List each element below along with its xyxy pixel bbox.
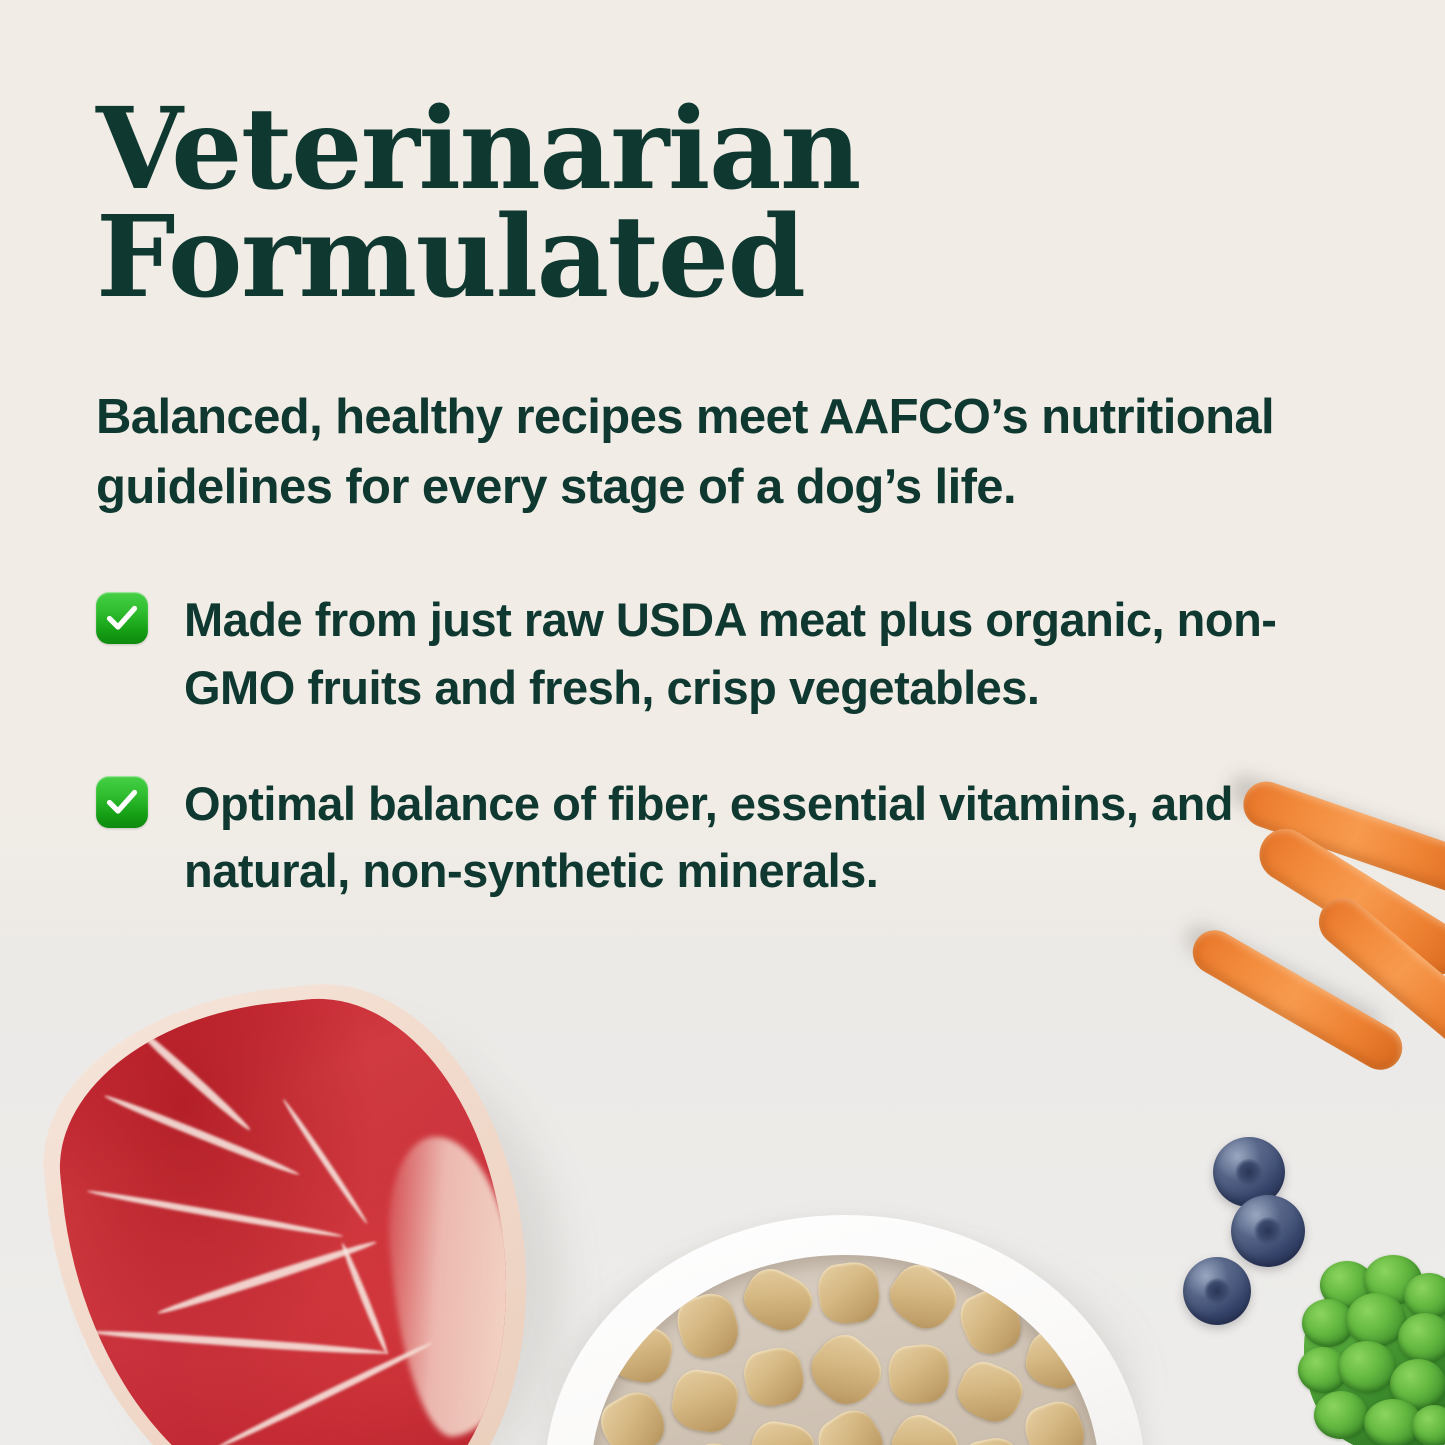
page-title: Veterinarian Formulated [96, 96, 1386, 311]
blueberry [1231, 1195, 1305, 1267]
blueberry-calyx [1254, 1217, 1282, 1244]
raw-steak-image [27, 958, 623, 1445]
check-mark-button-icon [96, 592, 148, 644]
intro-paragraph: Balanced, healthy recipes meet AAFCO’s n… [96, 311, 1366, 522]
list-item: Optimal balance of fiber, essential vita… [96, 770, 1386, 905]
bowl-interior [591, 1255, 1099, 1445]
list-item-label: Made from just raw USDA meat plus organi… [184, 586, 1386, 721]
check-mark-button-icon [96, 776, 148, 828]
kale-image [1298, 1255, 1445, 1445]
list-item-label: Optimal balance of fiber, essential vita… [184, 770, 1386, 905]
blueberry [1183, 1257, 1251, 1325]
kibble-bowl-image [545, 1215, 1155, 1445]
blueberry-calyx [1235, 1159, 1262, 1186]
marketing-banner: Veterinarian Formulated Balanced, health… [0, 0, 1445, 1445]
bowl-rim [545, 1215, 1145, 1445]
content-block: Veterinarian Formulated Balanced, health… [96, 96, 1386, 905]
blueberry-calyx [1204, 1278, 1230, 1304]
list-item: Made from just raw USDA meat plus organi… [96, 586, 1386, 721]
benefits-list: Made from just raw USDA meat plus organi… [96, 522, 1386, 905]
